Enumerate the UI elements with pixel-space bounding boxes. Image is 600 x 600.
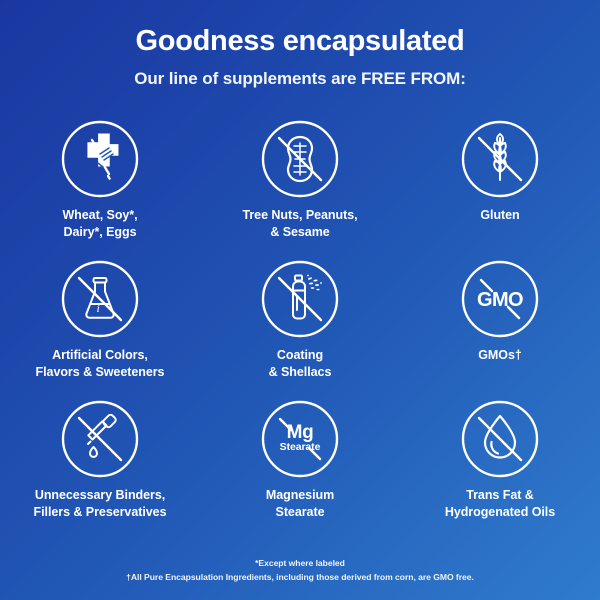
grid-cell-tree-nuts-peanuts-sesame: Tree Nuts, Peanuts, & Sesame bbox=[200, 118, 400, 258]
no-gluten-wheat-stalk-icon bbox=[459, 118, 541, 200]
no-wheat-soy-dairy-eggs-icon bbox=[59, 118, 141, 200]
poster-canvas: Goodness encapsulated Our line of supple… bbox=[0, 0, 600, 600]
page-title: Goodness encapsulated bbox=[0, 26, 600, 58]
no-flask-icon: i bbox=[59, 258, 141, 340]
grid-cell-label: Artificial Colors, Flavors & Sweeteners bbox=[36, 347, 165, 380]
grid-cell-label: Wheat, Soy*, Dairy*, Eggs bbox=[62, 207, 137, 240]
footnote-asterisk: *Except where labeled bbox=[0, 557, 600, 570]
svg-text:i: i bbox=[97, 301, 100, 315]
header: Goodness encapsulated Our line of supple… bbox=[0, 0, 600, 89]
page-subtitle: Our line of supplements are FREE FROM: bbox=[0, 69, 600, 89]
no-spray-can-icon bbox=[259, 258, 341, 340]
grid-row: i Artificial Colors, Flavors & Sweetener… bbox=[0, 258, 600, 398]
stearate-badge-text: Stearate bbox=[280, 441, 321, 453]
grid-cell-label: Trans Fat & Hydrogenated Oils bbox=[445, 487, 555, 520]
no-dropper-icon bbox=[59, 398, 141, 480]
grid-cell-coating-shellacs: Coating & Shellacs bbox=[200, 258, 400, 398]
gmo-badge-text: GMO bbox=[477, 289, 523, 311]
grid-cell-unnecessary-binders: Unnecessary Binders, Fillers & Preservat… bbox=[0, 398, 200, 538]
grid-cell-trans-fat: Trans Fat & Hydrogenated Oils bbox=[400, 398, 600, 538]
grid-cell-wheat-soy-dairy-eggs: Wheat, Soy*, Dairy*, Eggs bbox=[0, 118, 200, 258]
grid-cell-label: Coating & Shellacs bbox=[269, 347, 332, 380]
grid-cell-label: Unnecessary Binders, Fillers & Preservat… bbox=[34, 487, 167, 520]
no-peanut-icon bbox=[259, 118, 341, 200]
grid-cell-label: GMOs† bbox=[478, 347, 522, 364]
grid-cell-artificial-colors: i Artificial Colors, Flavors & Sweetener… bbox=[0, 258, 200, 398]
grid-cell-magnesium-stearate: Mg Stearate Magnesium Stearate bbox=[200, 398, 400, 538]
grid-cell-label: Gluten bbox=[480, 207, 519, 224]
footnotes: *Except where labeled †All Pure Encapsul… bbox=[0, 557, 600, 584]
grid-row: Wheat, Soy*, Dairy*, Eggs bbox=[0, 118, 600, 258]
grid-row: Unnecessary Binders, Fillers & Preservat… bbox=[0, 398, 600, 538]
grid-cell-label: Tree Nuts, Peanuts, & Sesame bbox=[242, 207, 357, 240]
grid-cell-gluten: Gluten bbox=[400, 118, 600, 258]
free-from-grid: Wheat, Soy*, Dairy*, Eggs bbox=[0, 118, 600, 538]
grid-cell-gmos: GMO GMOs† bbox=[400, 258, 600, 398]
footnote-dagger: †All Pure Encapsulation Ingredients, inc… bbox=[0, 571, 600, 584]
mg-badge-text: Mg bbox=[287, 422, 314, 443]
no-gmo-icon: GMO bbox=[459, 258, 541, 340]
grid-cell-label: Magnesium Stearate bbox=[266, 487, 334, 520]
no-magnesium-stearate-icon: Mg Stearate bbox=[259, 398, 341, 480]
no-oil-droplet-icon bbox=[459, 398, 541, 480]
